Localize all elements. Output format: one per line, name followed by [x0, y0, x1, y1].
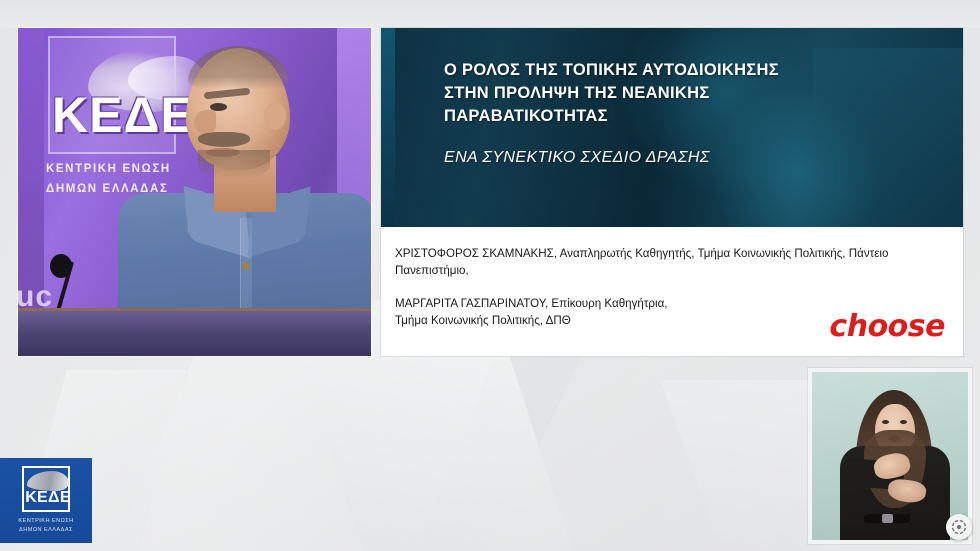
backdrop-kede-subtitle-line1: ΚΕΝΤΡΙΚΗ ΕΝΩΣΗ [46, 163, 171, 175]
podium [18, 308, 371, 356]
kede-card-wordmark: ΚΕΔΕ [24, 490, 72, 506]
microphone-icon [50, 254, 72, 278]
slide-hero: Ο ΡΟΛΟΣ ΤΗΣ ΤΟΠΙΚΗΣ ΑΥΤΟΔΙΟΙΚΗΣΗΣ ΣΤΗΝ Π… [381, 28, 963, 227]
slide-body: ΧΡΙΣΤΟΦΟΡΟΣ ΣΚΑΜΝΑΚΗΣ, Αναπληρωτής Καθηγ… [381, 227, 963, 356]
choose-sponsor-logo: choose [829, 309, 945, 344]
slide-title-line2: ΣΤΗΝ ΠΡΟΛΗΨΗ ΤΗΣ ΝΕΑΝΙΚΗΣ [444, 82, 937, 105]
slide-hero-text: Ο ΡΟΛΟΣ ΤΗΣ ΤΟΠΙΚΗΣ ΑΥΤΟΔΙΟΙΚΗΣΗΣ ΣΤΗΝ Π… [444, 59, 937, 167]
speaker-video-panel[interactable]: ΚΕΔΕ ΚΕΝΤΡΙΚΗ ΕΝΩΣΗ ΔΗΜΩΝ ΕΛΛΑΔΑΣ uc [18, 28, 371, 356]
speaker-shirt-button [242, 262, 250, 270]
background-top-strip [0, 0, 980, 28]
author1-line1: ΧΡΙΣΤΟΦΟΡΟΣ ΣΚΑΜΝΑΚΗΣ, Αναπληρωτής Καθηγ… [395, 245, 939, 262]
drag-move-glyph [951, 519, 967, 535]
kede-branding-card: ΚΕΔΕ ΚΕΝΤΡΙΚΗ ΕΝΩΣΗ ΔΗΜΩΝ ΕΛΛΑΔΑΣ [0, 458, 92, 543]
speaker-moustache [198, 132, 250, 147]
slide-hero-edge [381, 28, 395, 227]
kede-card-swoosh-icon [27, 471, 69, 491]
drag-move-icon[interactable] [946, 514, 972, 540]
kede-card-subtitle-line2: ΔΗΜΩΝ ΕΛΛΑΔΑΣ [0, 527, 92, 533]
presentation-slide-panel[interactable]: Ο ΡΟΛΟΣ ΤΗΣ ΤΟΠΙΚΗΣ ΑΥΤΟΔΙΟΙΚΗΣΗΣ ΣΤΗΝ Π… [381, 28, 963, 356]
speaker-nose [194, 110, 216, 134]
author1-line2: Πανεπιστήμιο, [395, 262, 939, 279]
interpreter-belt-buckle [882, 514, 893, 523]
speaker-ear [264, 102, 286, 130]
backdrop-kede-wordmark: ΚΕΔΕ [52, 90, 195, 140]
kede-card-subtitle-line1: ΚΕΝΤΡΙΚΗ ΕΝΩΣΗ [0, 518, 92, 524]
interpreter-eye-left [882, 420, 889, 424]
speaker-beard [198, 150, 270, 180]
slide-title-line3: ΠΑΡΑΒΑΤΙΚΟΤΗΤΑΣ [444, 105, 937, 128]
slide-subtitle: ΕΝΑ ΣΥΝΕΚΤΙΚΟ ΣΧΕΔΙΟ ΔΡΑΣΗΣ [444, 149, 937, 167]
sign-language-pip-panel[interactable] [808, 368, 972, 544]
author-block-1: ΧΡΙΣΤΟΦΟΡΟΣ ΣΚΑΜΝΑΚΗΣ, Αναπληρωτής Καθηγ… [395, 245, 939, 280]
kede-card-logo-box: ΚΕΔΕ [22, 466, 70, 512]
slide-title-line1: Ο ΡΟΛΟΣ ΤΗΣ ΤΟΠΙΚΗΣ ΑΥΤΟΔΙΟΙΚΗΣΗΣ [444, 59, 937, 82]
interpreter-eye-right [900, 420, 907, 424]
